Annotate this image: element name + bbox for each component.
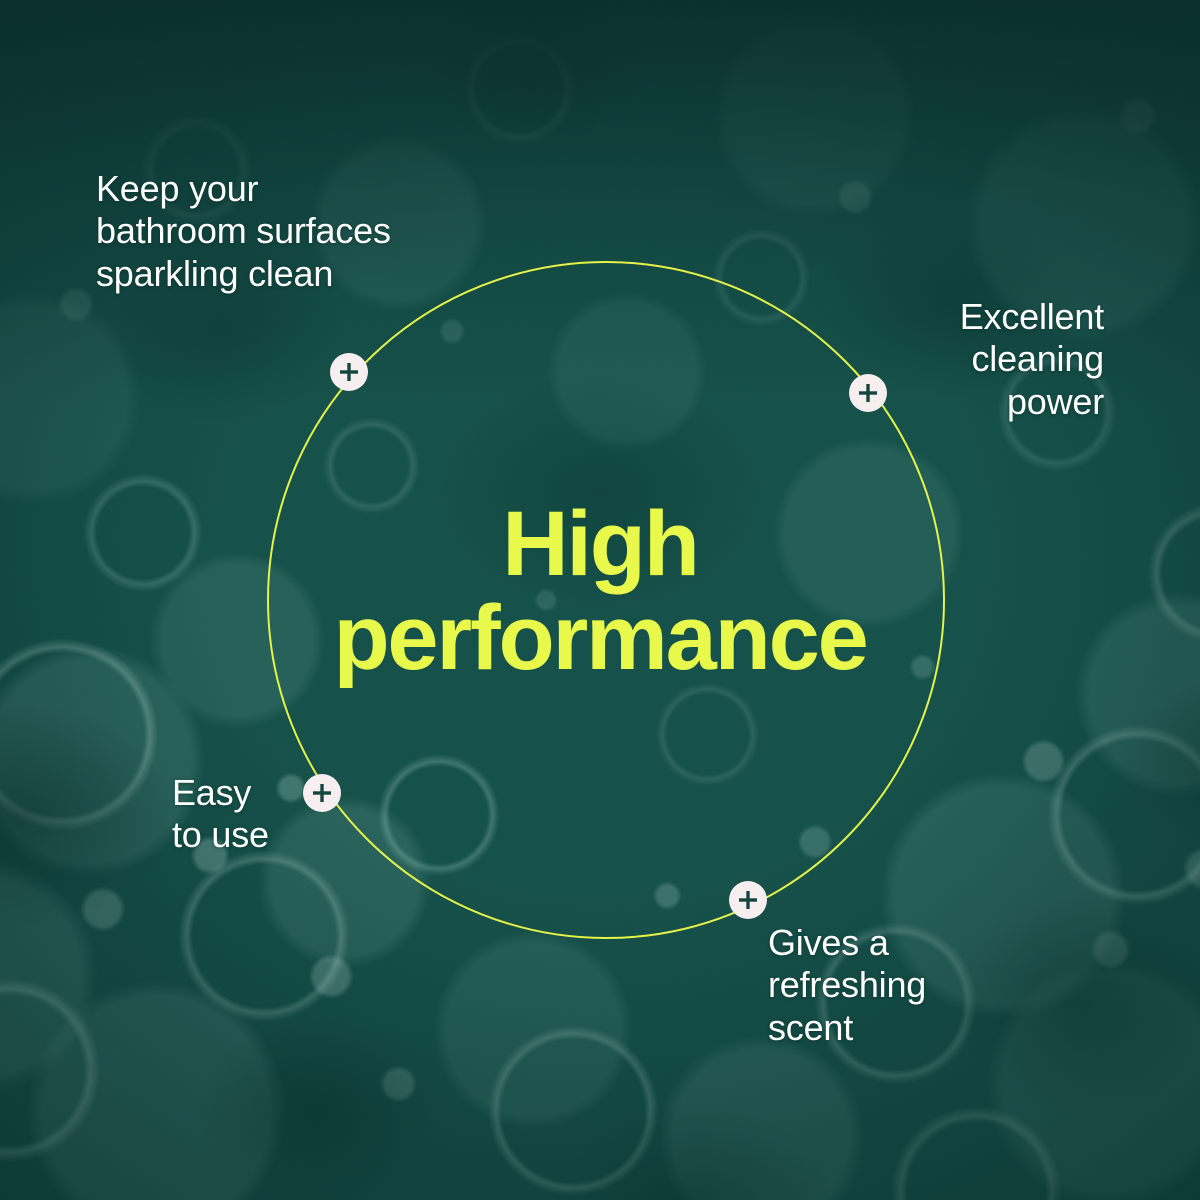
- plus-icon: [866, 384, 869, 402]
- feature-label-surfaces: Keep your bathroom surfaces sparkling cl…: [96, 168, 391, 295]
- feature-label-easy-to-use: Easy to use: [172, 772, 269, 857]
- feature-label-cleaning-power: Excellent cleaning power: [960, 296, 1104, 423]
- plus-icon: [347, 363, 350, 381]
- feature-label-refreshing-scent: Gives a refreshing scent: [768, 922, 926, 1049]
- plus-icon: [746, 891, 749, 909]
- plus-badge-gives-a-refreshing-scent[interactable]: [729, 881, 767, 919]
- benefits-infographic: High performance Keep your bathroom surf…: [0, 0, 1200, 1200]
- page-title: High performance: [0, 498, 1200, 686]
- plus-badge-keep-your-bathroom-surfaces-sparkling-clean[interactable]: [330, 353, 368, 391]
- plus-icon: [320, 784, 323, 802]
- plus-badge-easy-to-use[interactable]: [303, 774, 341, 812]
- plus-badge-excellent-cleaning-power[interactable]: [849, 374, 887, 412]
